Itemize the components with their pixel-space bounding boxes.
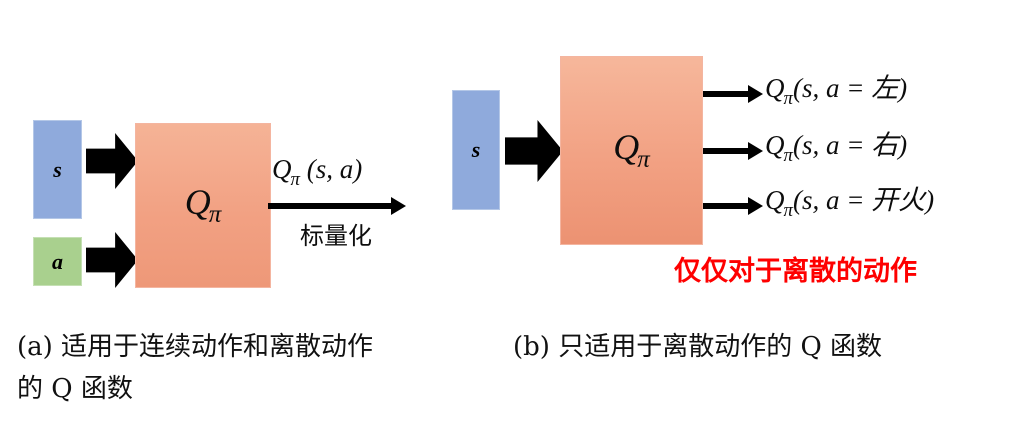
output-formula-b-3: Qπ(s, a = 开火) xyxy=(765,187,934,221)
output-formula-sub-a: π xyxy=(291,169,300,190)
output-formula-args-b-3: (s, a = 开火) xyxy=(793,185,934,215)
output-formula-sub-b-2: π xyxy=(784,145,793,166)
output-formula-base-a: Q xyxy=(272,154,292,184)
output-formula-args-a: (s, a) xyxy=(300,154,362,184)
discrete-only-note: 仅仅对于离散的动作 xyxy=(674,258,917,285)
caption-b: (b) 只适用于离散动作的 Q 函数 xyxy=(513,326,993,368)
input-label-state-b: s xyxy=(472,139,481,161)
output-formula-b-2: Qπ(s, a = 右) xyxy=(765,132,907,166)
input-block-action-a: a xyxy=(33,237,82,286)
output-arrow-b-1 xyxy=(703,91,750,97)
input-label-state-a: s xyxy=(53,159,62,181)
output-formula-base-b-1: Q xyxy=(765,73,785,103)
block-arrow-state-to-network-b xyxy=(505,120,563,182)
input-block-state-b: s xyxy=(452,90,500,210)
network-label-base-b: Q xyxy=(613,127,639,167)
network-label-sub-b: π xyxy=(637,146,650,173)
output-arrow-b-2 xyxy=(703,148,750,154)
block-arrow-action-to-network-a xyxy=(86,232,138,288)
network-block-a: Qπ xyxy=(135,123,271,288)
input-block-state-a: s xyxy=(33,120,82,219)
output-formula-args-b-1: (s, a = 左) xyxy=(793,73,907,103)
output-arrow-b-3 xyxy=(703,203,750,209)
output-formula-sub-b-3: π xyxy=(784,200,793,221)
caption-a: (a) 适用于连续动作和离散动作 的 Q 函数 xyxy=(17,326,487,410)
block-arrow-state-to-network-a xyxy=(86,133,138,189)
arrowhead-icon xyxy=(748,142,763,160)
output-formula-b-1: Qπ(s, a = 左) xyxy=(765,75,907,109)
output-formula-sub-b-1: π xyxy=(784,88,793,109)
network-block-b: Qπ xyxy=(560,56,703,245)
input-label-action-a: a xyxy=(52,251,63,273)
output-arrow-a xyxy=(268,203,393,209)
network-label-a: Qπ xyxy=(185,184,222,227)
network-label-base-a: Q xyxy=(185,182,211,222)
arrowhead-icon xyxy=(748,197,763,215)
output-sublabel-a: 标量化 xyxy=(300,224,372,248)
arrowhead-icon xyxy=(748,85,763,103)
output-formula-base-b-2: Q xyxy=(765,130,785,160)
network-label-b: Qπ xyxy=(613,129,650,172)
network-label-sub-a: π xyxy=(209,201,222,228)
figure-canvas: s a Qπ Qπ (s, a) 标量化 (a) 适用于连续动作和离散动作 的 … xyxy=(0,0,1010,423)
arrowhead-icon xyxy=(391,197,406,215)
output-formula-a: Qπ (s, a) xyxy=(272,156,362,190)
output-formula-args-b-2: (s, a = 右) xyxy=(793,130,907,160)
output-formula-base-b-3: Q xyxy=(765,185,785,215)
